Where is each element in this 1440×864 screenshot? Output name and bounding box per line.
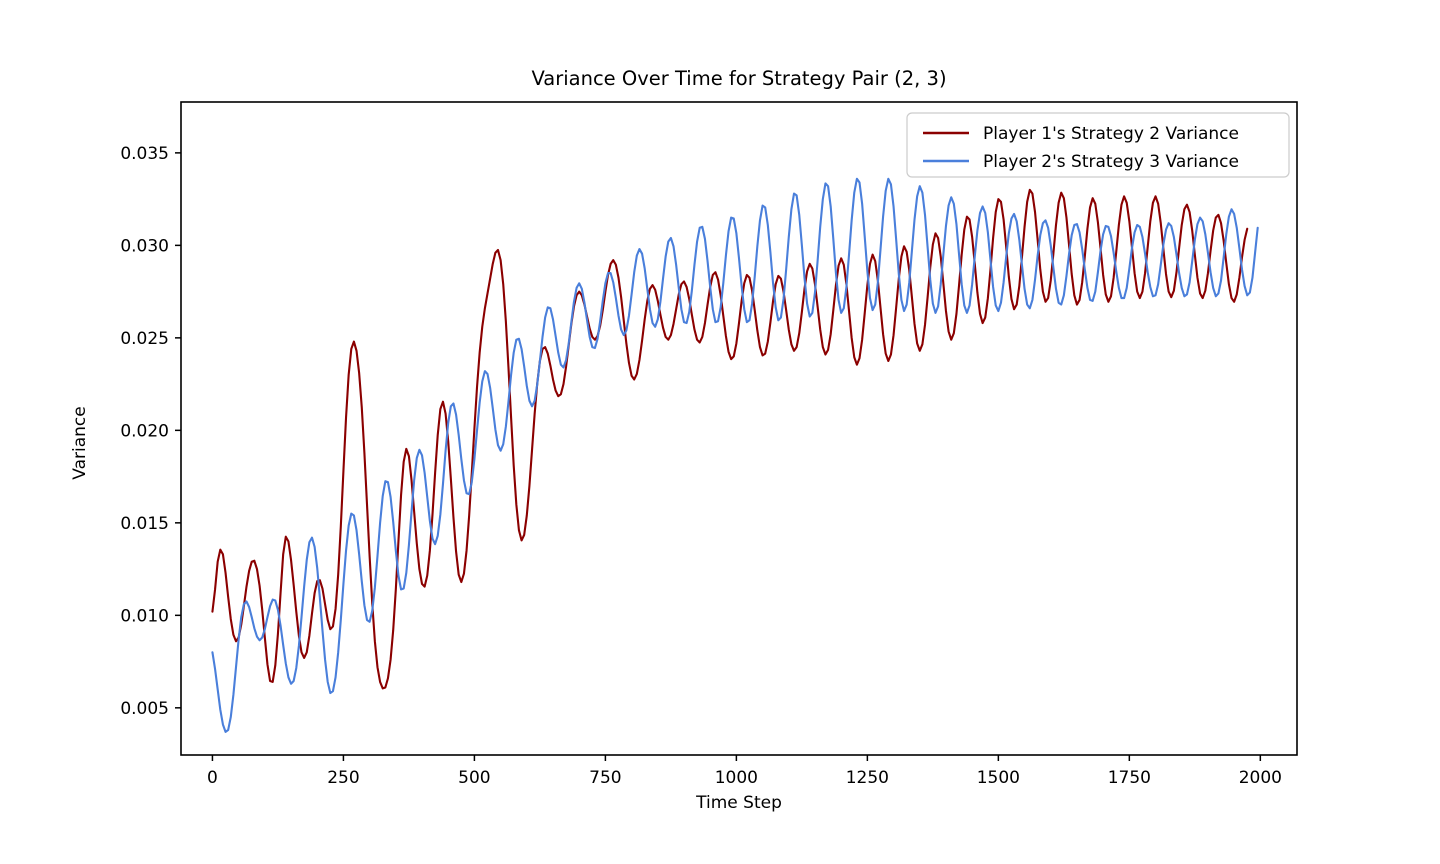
x-axis-label: Time Step <box>695 793 782 813</box>
y-tick-label: 0.030 <box>120 236 169 256</box>
x-tick-label: 250 <box>327 768 359 788</box>
x-tick-label: 750 <box>589 768 621 788</box>
chart-canvas: 0.0050.0100.0150.0200.0250.0300.035 0250… <box>0 0 1440 864</box>
x-tick-label: 500 <box>458 768 490 788</box>
x-tick-label: 1250 <box>846 768 889 788</box>
y-tick-label: 0.025 <box>120 329 169 349</box>
legend-label-2: Player 2's Strategy 3 Variance <box>983 152 1239 172</box>
legend[interactable]: Player 1's Strategy 2 VariancePlayer 2's… <box>907 113 1289 177</box>
chart-title: Variance Over Time for Strategy Pair (2,… <box>531 67 946 90</box>
x-tick-label: 2000 <box>1239 768 1282 788</box>
plot-area-background <box>181 102 1297 755</box>
y-tick-label: 0.015 <box>120 514 169 534</box>
x-tick-label: 1000 <box>715 768 758 788</box>
matplotlib-figure: 0.0050.0100.0150.0200.0250.0300.035 0250… <box>0 0 1440 864</box>
x-tick-label: 0 <box>207 768 218 788</box>
y-tick-label: 0.010 <box>120 606 169 626</box>
x-tick-label: 1750 <box>1108 768 1151 788</box>
legend-label-1: Player 1's Strategy 2 Variance <box>983 124 1239 144</box>
y-tick-label: 0.020 <box>120 421 169 441</box>
y-axis-label: Variance <box>70 406 90 479</box>
x-tick-label: 1500 <box>977 768 1020 788</box>
y-tick-label: 0.005 <box>120 699 169 719</box>
y-tick-label: 0.035 <box>120 144 169 164</box>
